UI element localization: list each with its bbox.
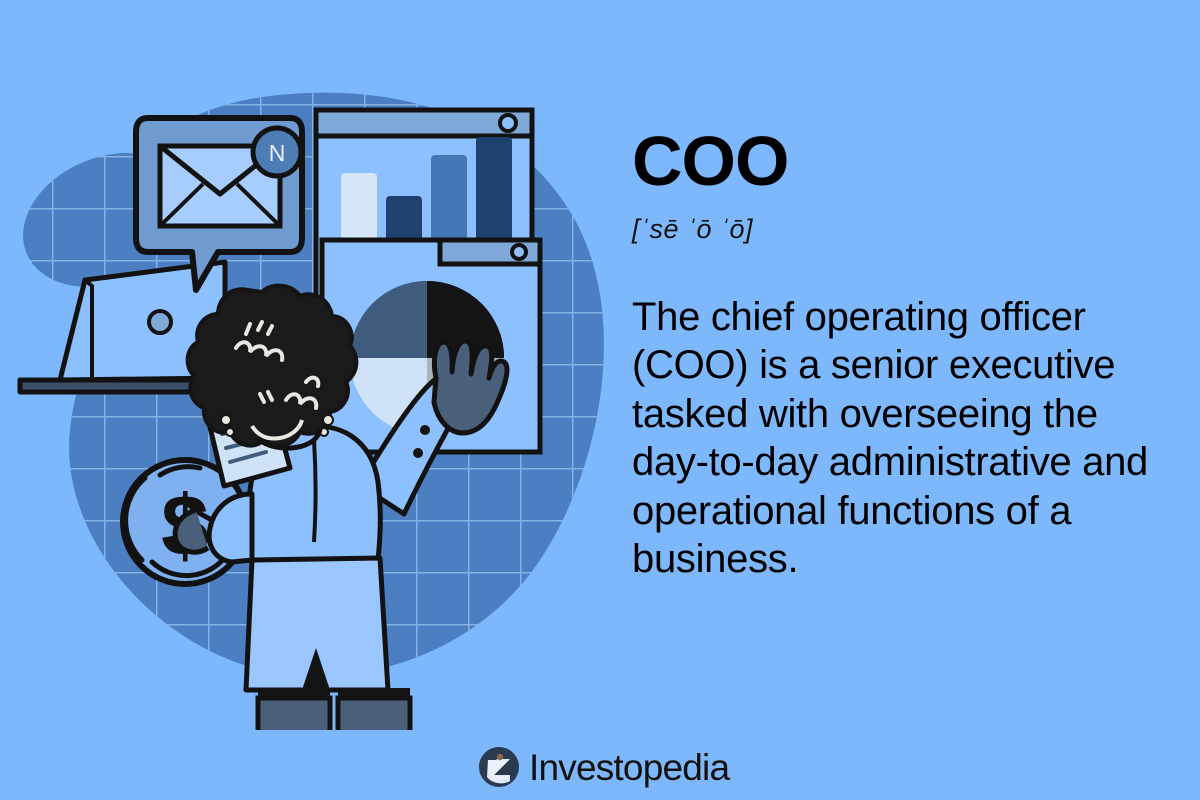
notification-badge: N — [253, 128, 301, 176]
page-title: COO — [632, 126, 1172, 196]
person-figure — [175, 286, 507, 730]
illustration: N — [0, 90, 620, 730]
investopedia-logo: Investopedia — [478, 746, 729, 788]
pronunciation: [ˈsē ˈō ˈō] — [632, 214, 1172, 245]
investopedia-logo-text: Investopedia — [529, 749, 729, 786]
person-legs — [258, 688, 410, 730]
infographic-card: N — [0, 0, 1200, 800]
definition-block: COO [ˈsē ˈō ˈō] The chief operating offi… — [632, 126, 1172, 583]
investopedia-logo-icon — [478, 746, 520, 788]
definition-text: The chief operating officer (COO) is a s… — [632, 293, 1172, 583]
notification-badge-label: N — [269, 140, 286, 166]
